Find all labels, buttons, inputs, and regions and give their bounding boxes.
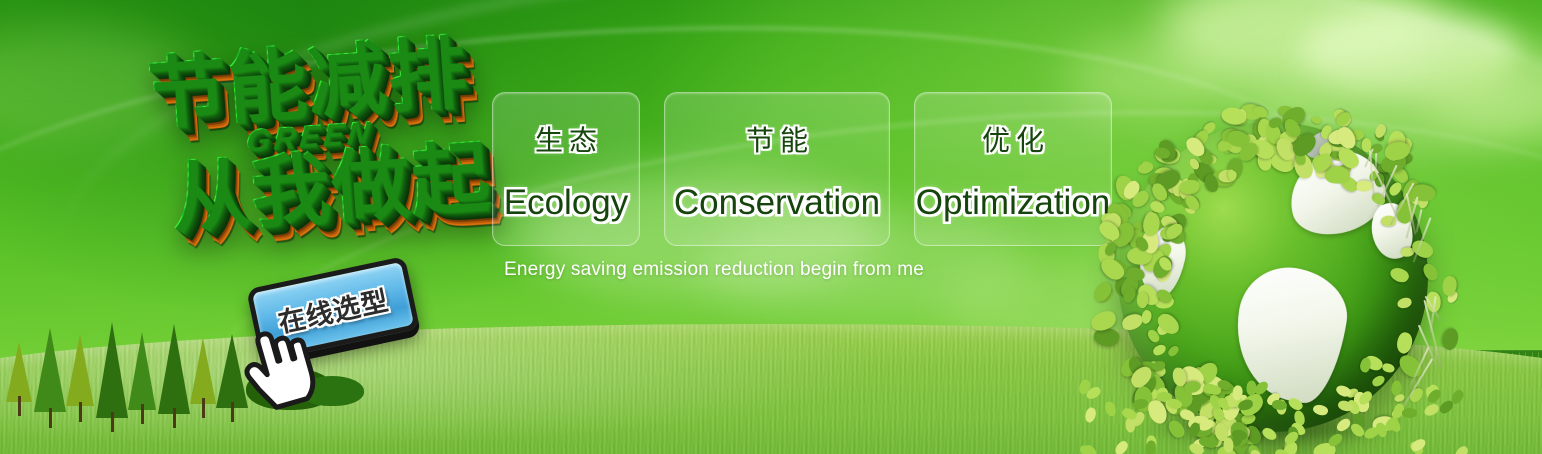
leaf-icon [1445,289,1460,304]
leaf-icon [1410,182,1437,204]
fallen-leaf-icon [1164,398,1179,416]
tree-trunk [173,408,176,428]
headline-line-1: 节能减排 [95,27,520,138]
leaf-icon [1396,153,1412,165]
headline-line-2: 从我做起 [118,132,543,243]
fallen-leaf-icon [1125,417,1137,433]
tree-trunk [231,402,234,422]
vine-icon [1409,347,1430,389]
feature-card-cn-label: 优化 [976,119,1050,159]
bush-icon [300,376,364,406]
leaf-icon [1137,388,1158,403]
cloud-icon [0,26,200,146]
leaf-icon [1373,122,1389,139]
conifer-tree-icon [34,328,66,412]
tree-trunk [141,404,144,424]
continent-right-edge [1368,200,1415,261]
fallen-leaf-icon [1401,407,1417,419]
fallen-leaf-icon [1120,406,1138,422]
leaf-icon [1310,115,1322,126]
conifer-tree-icon [6,342,32,402]
leaf-icon [1385,129,1409,157]
tree-trunk [111,412,114,432]
continent-left-edge [1133,224,1191,302]
feature-card-optimization[interactable]: 优化 Optimization [914,92,1112,246]
leaf-icon [1417,194,1431,210]
leaf-icon [1374,129,1386,142]
feature-card-ecology[interactable]: 生态 Ecology [492,92,640,246]
leaf-icon [1348,129,1364,141]
leaf-icon [1334,110,1354,128]
leaf-icon [1114,174,1137,203]
leaf-icon [1407,183,1430,208]
feature-card-en-label: Optimization [916,183,1111,223]
leaf-icon [1129,386,1150,410]
tree-trunk [79,402,82,422]
leaf-icon [1331,106,1351,127]
leaf-icon [1121,365,1132,378]
leaf-icon [1370,144,1383,154]
leaf-icon [1425,291,1441,313]
leaf-icon [1133,385,1154,413]
feature-card-en-label: Conservation [674,183,880,223]
leaf-icon [1251,104,1269,121]
leafy-globe-icon [1118,122,1428,432]
continent-south-america [1226,260,1353,407]
feature-card-cn-label: 节能 [740,119,814,159]
eco-hero-banner: 节能减排 GREEN 从我做起 在线选型 生态 Ecology 节能 Conse… [0,0,1542,454]
leaf-icon [1277,104,1294,117]
leaf-icon [1385,143,1407,162]
fallen-leaf-icon [1133,399,1148,410]
tagline-text: Energy saving emission reduction begin f… [504,259,924,281]
conifer-tree-icon [66,334,94,406]
leaf-icon [1338,113,1354,128]
fallen-leaf-icon [1390,402,1406,420]
conifer-tree-icon [158,324,190,414]
feature-card-en-label: Ecology [504,183,629,223]
leaf-icon [1128,356,1142,375]
vine-icon [1397,358,1433,416]
tree-trunk [49,408,52,428]
headline-green-word: GREEN [98,107,520,167]
leaf-icon [1384,141,1410,160]
leaf-icon [1098,243,1115,266]
vine-icon [1424,296,1441,322]
leaf-icon [1407,386,1426,404]
leaf-icon [1096,288,1115,305]
leaf-icon [1394,393,1405,402]
leaf-icon [1390,407,1403,419]
tree-trunk [202,398,205,418]
cloud-icon [1300,10,1520,96]
leaf-icon [1440,275,1459,298]
feature-card-conservation[interactable]: 节能 Conservation [664,92,890,246]
vine-icon [1429,296,1436,334]
cta-button-label: 在线选型 [274,278,392,339]
leaf-icon [1165,401,1181,418]
cloud-icon [1160,0,1440,90]
conifer-tree-icon [128,332,156,410]
leaf-icon [1134,372,1148,387]
leaf-icon [1236,109,1246,123]
feature-card-cn-label: 生态 [529,119,603,159]
leaf-icon [1411,187,1423,203]
fallen-leaf-icon [1390,380,1403,397]
leaf-icon [1090,279,1115,304]
leaf-icon [1137,161,1154,174]
tree-trunk [18,396,21,416]
conifer-tree-icon [96,322,128,418]
globe-sphere [1118,122,1428,432]
headline-3d-text: 节能减排 GREEN 从我做起 [88,22,523,281]
leaf-icon [1140,159,1155,173]
conifer-tree-icon [190,338,216,404]
feature-card-list: 生态 Ecology 节能 Conservation 优化 Optimizati… [492,92,1112,246]
cloud-icon [1420,46,1542,138]
leaf-icon [1153,145,1171,161]
leaf-icon [1392,135,1416,158]
leaf-icon [1239,102,1264,123]
conifer-tree-icon [216,334,248,408]
